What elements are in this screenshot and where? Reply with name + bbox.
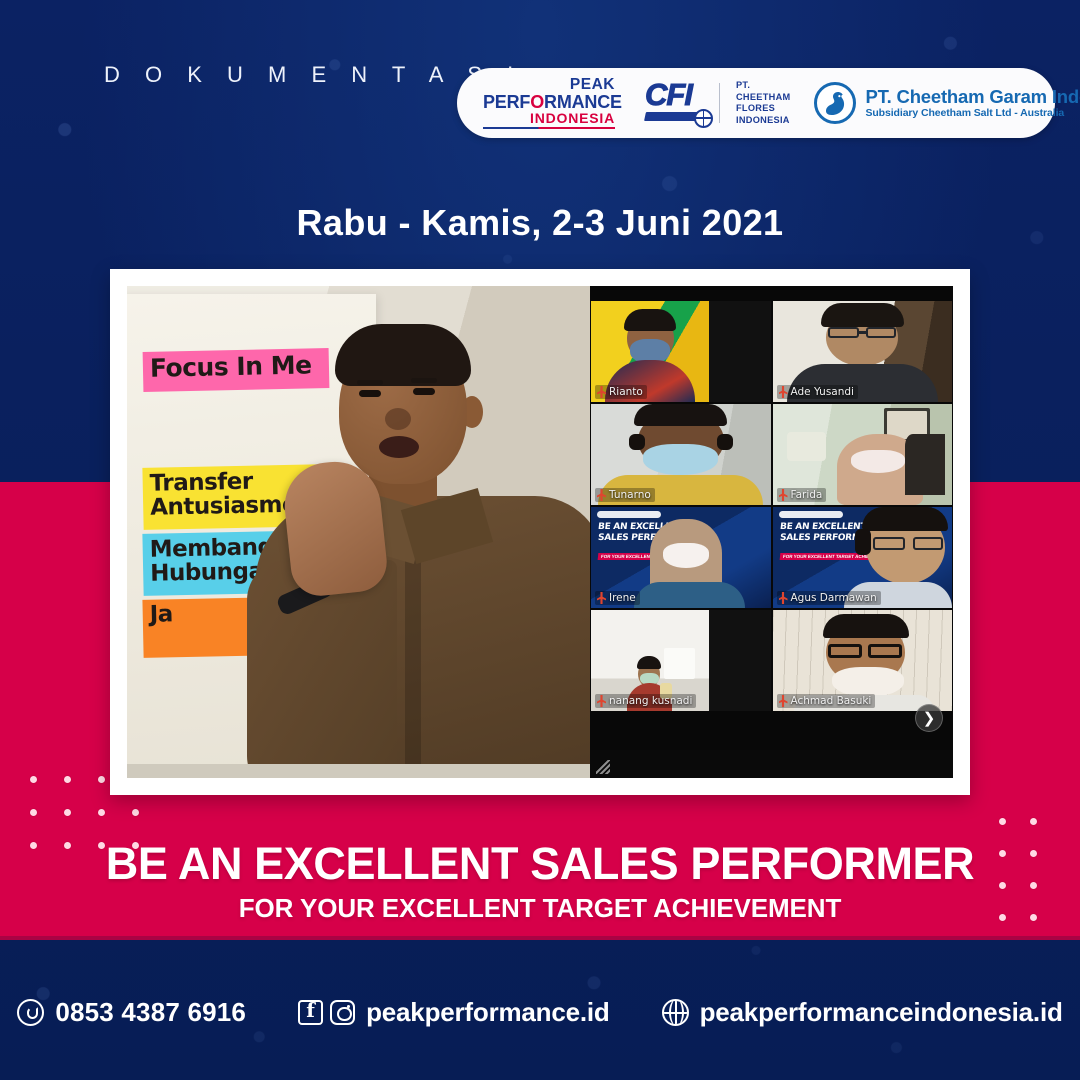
participant-name: Achmad Basuki [791,695,872,707]
logo-peak-line2: PERFORMANCE [483,93,615,111]
partner-logo-bar: PEAK PERFORMANCE INDONESIA CFI PT. CHEET… [457,68,1055,138]
instagram-icon[interactable] [330,1000,355,1025]
speaker-eyebrow [357,380,383,385]
logo-divider [719,83,720,123]
speaker-eye [413,388,435,395]
dot [98,809,105,816]
whatsapp-icon [17,999,44,1026]
participant-name-badge: Agus Darmawan [777,591,881,605]
participant-tiles: Rianto [590,300,953,712]
dot [98,776,105,783]
speaker-figure [247,310,590,778]
slide-line-1: BE AN EXCELLENT [779,522,866,532]
event-date: Rabu - Kamis, 2-3 Juni 2021 [0,202,1080,244]
mic-muted-icon [779,489,788,501]
dot [30,776,37,783]
globe-meridian [675,999,677,1026]
participant-name: Farida [791,489,823,501]
mic-muted-icon [779,695,788,707]
mic-muted-icon [597,489,606,501]
zoom-meeting-screenshot: Focus In Me Transfer Antusiasme Membangu… [127,286,953,778]
cheetham-company-name: PT. Cheetham Garam Indonesia [865,87,1080,107]
participant-tile[interactable]: Ade Yusandi [773,301,953,402]
screenshot-photo-card: Focus In Me Transfer Antusiasme Membangu… [110,269,970,795]
participant-name-badge: Achmad Basuki [777,694,876,708]
logo-peak-underline [483,127,615,129]
whatsapp-handset-glyph [27,1007,38,1019]
swan-seal-icon [814,82,856,124]
footer-social[interactable]: peakperformance.id [298,997,610,1028]
participant-tile[interactable]: BE AN EXCELLENT SALES PERFORMER FOR YOUR… [773,507,953,608]
participant-name-badge: Rianto [595,385,647,399]
mic-muted-icon [779,592,788,604]
speaker-eyebrow [411,378,437,383]
speaker-mouth [379,436,419,458]
participant-name: nanang kusnadi [609,695,692,707]
logo-peak-performance-indonesia: PEAK PERFORMANCE INDONESIA [475,77,615,129]
participant-name: Rianto [609,386,643,398]
participant-grid-pane: Rianto [590,286,953,778]
footer-contact-bar: 0853 4387 6916 peakperformance.id peakpe… [0,986,1080,1038]
facebook-icon[interactable] [298,1000,323,1025]
dot [1030,818,1037,825]
dot [30,809,37,816]
cfi-mark: CFI [645,80,707,126]
banner-subheadline: FOR YOUR EXCELLENT TARGET ACHIEVEMENT [0,893,1080,924]
logo-peak-line3: INDONESIA [483,111,615,125]
dot [999,818,1006,825]
footer-social-handle: peakperformance.id [366,997,610,1028]
mic-muted-icon [779,386,788,398]
cfi-line-2: CHEETHAM [736,92,790,104]
footer-website-url: peakperformanceindonesia.id [700,997,1063,1028]
footer-whatsapp[interactable]: 0853 4387 6916 [17,997,246,1028]
poster-canvas: D O K U M E N T A S I PEAK PERFORMANCE I… [0,0,1080,1080]
participant-name-badge: Tunarno [595,488,655,502]
slide-browser-bar [779,511,843,518]
slide-browser-bar [597,511,661,518]
mic-muted-icon [597,592,606,604]
participant-tile[interactable]: Achmad Basuki [773,610,953,711]
banner-headline: BE AN EXCELLENT SALES PERFORMER [0,838,1080,890]
participant-name: Tunarno [609,489,651,501]
cfi-letters: CFI [645,80,707,110]
speaker-nose [385,408,411,430]
speaker-tile-floor [127,764,590,778]
participant-tile[interactable]: nanang kusnadi [591,610,771,711]
cfi-line-3: FLORES [736,103,790,115]
cheetham-company-sub: Subsidiary Cheetham Salt Ltd - Australia [865,107,1080,119]
globe-icon [694,109,713,128]
cfi-company-lines: PT. CHEETHAM FLORES INDONESIA [736,80,790,126]
grid-bottom-strip [590,750,953,778]
logo-cheetham-garam-indonesia: PT. Cheetham Garam Indonesia Subsidiary … [814,82,1080,124]
globe-icon [662,999,689,1026]
logo-peak-line1: PEAK [483,77,615,93]
participant-name-badge: Irene [595,591,640,605]
logo-cfi: CFI PT. CHEETHAM FLORES INDONESIA [645,80,790,126]
footer-whatsapp-number: 0853 4387 6916 [55,997,246,1028]
cfi-line-1: PT. [736,80,790,92]
participant-name: Irene [609,592,636,604]
resize-grip-icon[interactable] [596,760,610,774]
participant-name-badge: Ade Yusandi [777,385,858,399]
participant-tile[interactable]: Farida [773,404,953,505]
next-page-button[interactable]: ❯ [915,704,943,732]
participant-name: Ade Yusandi [791,386,854,398]
participant-tile[interactable]: Tunarno [591,404,771,505]
participant-name-badge: nanang kusnadi [595,694,696,708]
cfi-line-4: INDONESIA [736,115,790,127]
speaker-eye [359,390,381,397]
speaker-video-tile: Focus In Me Transfer Antusiasme Membangu… [127,286,590,778]
speaker-hair [335,324,471,386]
participant-tile[interactable]: Rianto [591,301,771,402]
dot [64,809,71,816]
participant-tile[interactable]: BE AN EXCELLENT SALES PERFORMER FOR YOUR… [591,507,771,608]
participant-name-badge: Farida [777,488,827,502]
dot [64,776,71,783]
participant-name: Agus Darmawan [791,592,877,604]
mic-muted-icon [597,386,606,398]
kicker-dokumentasi: D O K U M E N T A S I [104,62,523,88]
mic-muted-icon [597,695,606,707]
swan-icon [822,89,848,117]
footer-website[interactable]: peakperformanceindonesia.id [662,997,1063,1028]
dot [132,809,139,816]
